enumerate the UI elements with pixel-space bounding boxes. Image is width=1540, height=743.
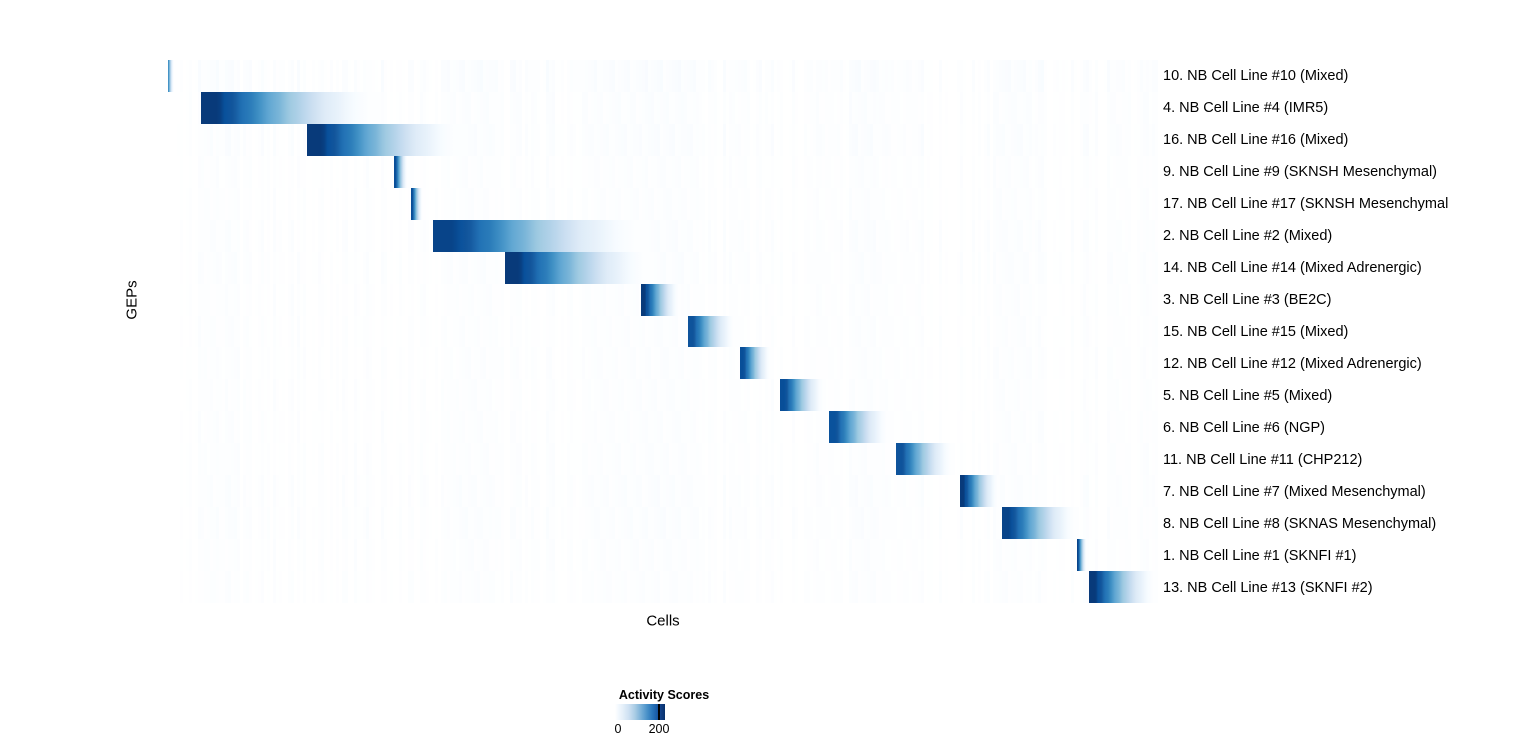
heatmap-activity-block xyxy=(1077,539,1087,571)
row-label-list: 10. NB Cell Line #10 (Mixed)4. NB Cell L… xyxy=(1163,60,1533,603)
heatmap-row-noise xyxy=(168,252,1158,284)
row-label: 15. NB Cell Line #15 (Mixed) xyxy=(1163,324,1348,340)
heatmap-row xyxy=(168,379,1158,411)
colorbar-legend: Activity Scores 0200 xyxy=(615,688,855,740)
row-label: 1. NB Cell Line #1 (SKNFI #1) xyxy=(1163,548,1356,564)
row-label: 13. NB Cell Line #13 (SKNFI #2) xyxy=(1163,580,1373,596)
colorbar-tick-label: 200 xyxy=(649,722,670,736)
row-label: 9. NB Cell Line #9 (SKNSH Mesenchymal) xyxy=(1163,164,1437,180)
row-label: 8. NB Cell Line #8 (SKNAS Mesenchymal) xyxy=(1163,516,1436,532)
heatmap-row xyxy=(168,411,1158,443)
heatmap-row-noise xyxy=(168,316,1158,348)
heatmap-activity-block xyxy=(394,156,408,188)
heatmap-row xyxy=(168,60,1158,92)
colorbar-tick xyxy=(658,704,660,720)
heatmap-activity-block xyxy=(201,92,381,124)
heatmap-activity-block xyxy=(780,379,827,411)
row-label: 2. NB Cell Line #2 (Mixed) xyxy=(1163,228,1332,244)
row-label: 14. NB Cell Line #14 (Mixed Adrenergic) xyxy=(1163,260,1422,276)
heatmap-row-noise xyxy=(168,539,1158,571)
y-axis-label: GEPs xyxy=(124,280,141,319)
figure-canvas: GEPs Cells 10. NB Cell Line #10 (Mixed)4… xyxy=(0,0,1540,743)
heatmap-activity-block xyxy=(688,316,738,348)
heatmap-activity-block xyxy=(505,252,654,284)
row-label: 17. NB Cell Line #17 (SKNSH Mesenchymal xyxy=(1163,196,1448,212)
colorbar-tick-label: 0 xyxy=(615,722,622,736)
heatmap-activity-block xyxy=(1089,571,1158,603)
legend-title: Activity Scores xyxy=(619,688,709,702)
heatmap-row xyxy=(168,316,1158,348)
heatmap-activity-block xyxy=(960,475,1000,507)
heatmap-row xyxy=(168,188,1158,220)
heatmap-activity-block xyxy=(1002,507,1079,539)
heatmap-row-noise xyxy=(168,156,1158,188)
row-label: 7. NB Cell Line #7 (Mixed Mesenchymal) xyxy=(1163,484,1426,500)
heatmap-row xyxy=(168,571,1158,603)
heatmap-row xyxy=(168,252,1158,284)
heatmap-row xyxy=(168,124,1158,156)
row-label: 12. NB Cell Line #12 (Mixed Adrenergic) xyxy=(1163,356,1422,372)
row-label: 6. NB Cell Line #6 (NGP) xyxy=(1163,420,1325,436)
heatmap-row xyxy=(168,92,1158,124)
heatmap-row-noise xyxy=(168,379,1158,411)
heatmap-row-noise xyxy=(168,571,1158,603)
heatmap-plot-area xyxy=(168,60,1158,603)
heatmap-row xyxy=(168,507,1158,539)
heatmap-row-noise xyxy=(168,220,1158,252)
row-label: 10. NB Cell Line #10 (Mixed) xyxy=(1163,68,1348,84)
heatmap-row xyxy=(168,347,1158,379)
heatmap-activity-block xyxy=(433,220,649,252)
heatmap-row-noise xyxy=(168,411,1158,443)
heatmap-row-noise xyxy=(168,188,1158,220)
heatmap-row xyxy=(168,156,1158,188)
heatmap-activity-block xyxy=(411,188,424,220)
row-label: 11. NB Cell Line #11 (CHP212) xyxy=(1163,452,1362,468)
heatmap-activity-block xyxy=(641,284,681,316)
heatmap-activity-block xyxy=(740,347,772,379)
heatmap-row xyxy=(168,539,1158,571)
heatmap-row-noise xyxy=(168,347,1158,379)
heatmap-row-noise xyxy=(168,475,1158,507)
row-label: 5. NB Cell Line #5 (Mixed) xyxy=(1163,388,1332,404)
heatmap-activity-block xyxy=(829,411,890,443)
row-label: 4. NB Cell Line #4 (IMR5) xyxy=(1163,100,1328,116)
heatmap-row xyxy=(168,443,1158,475)
heatmap-row xyxy=(168,284,1158,316)
heatmap-activity-block xyxy=(896,443,955,475)
heatmap-row xyxy=(168,220,1158,252)
heatmap-row-noise xyxy=(168,60,1158,92)
row-label: 16. NB Cell Line #16 (Mixed) xyxy=(1163,132,1348,148)
heatmap-row xyxy=(168,475,1158,507)
x-axis-label: Cells xyxy=(646,613,679,630)
heatmap-activity-block xyxy=(168,60,174,92)
row-label: 3. NB Cell Line #3 (BE2C) xyxy=(1163,292,1331,308)
heatmap-row-noise xyxy=(168,443,1158,475)
heatmap-activity-block xyxy=(307,124,465,156)
